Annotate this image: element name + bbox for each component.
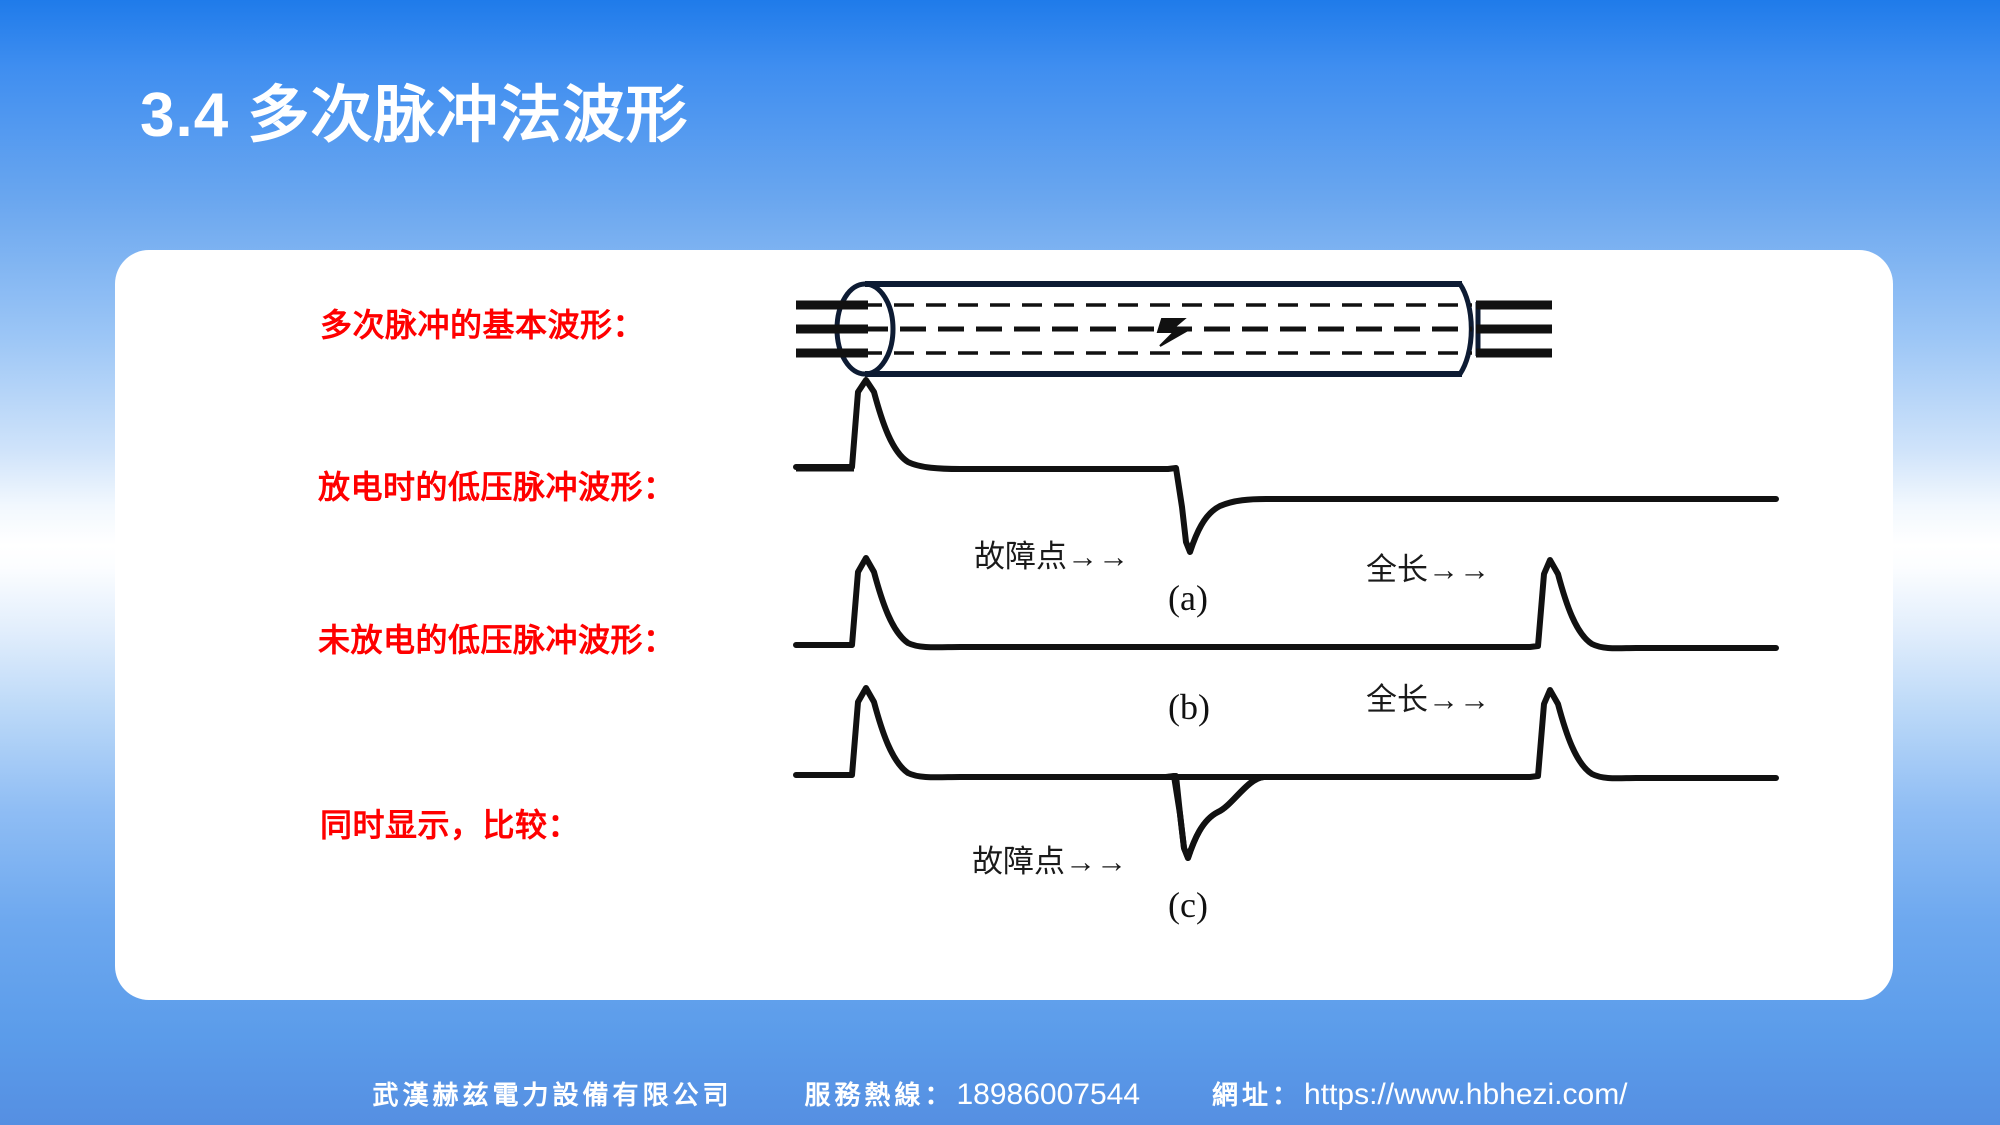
waveform-b-trace [796,558,1776,648]
label-simultaneous-compare: 同时显示，比较： [320,800,580,846]
annotation-fault-point-a: 故障点→→ [974,539,1129,574]
footer-site-url[interactable]: https://www.hbhezi.com/ [1304,1078,1627,1112]
caption-b: (b) [1168,687,1210,727]
footer-website: 網址： https://www.hbhezi.com/ [1212,1075,1627,1112]
waveform-figure: 故障点→→ (a) 全长→→ (b) 全长→→ 故障点→→ (c) [790,262,1850,992]
waveform-a: 故障点→→ (a) [796,380,1776,618]
waveform-c-fault-dip [1168,776,1264,858]
waveform-a-trace [796,380,1776,552]
label-no-discharge-waveform: 未放电的低压脉冲波形： [318,615,676,661]
footer-bar: 武漢赫兹電力設備有限公司 服務熱線： 18986007544 網址： https… [0,1068,2000,1118]
slide-canvas: 3.4 多次脉冲法波形 多次脉冲的基本波形： 放电时的低压脉冲波形： 未放电的低… [0,0,2000,1125]
cable-diagram [796,284,1552,374]
caption-c: (c) [1168,885,1208,925]
footer-company: 武漢赫兹電力設備有限公司 [372,1075,732,1112]
annotation-full-length-b: 全长→→ [1366,552,1490,587]
page-title: 3.4 多次脉冲法波形 [140,82,688,150]
footer-hotline-label: 服務熱線： [804,1075,954,1112]
caption-a: (a) [1168,578,1208,618]
footer-hotline: 服務熱線： 18986007544 [804,1075,1140,1112]
waveform-c: 全长→→ 故障点→→ (c) [796,682,1776,925]
annotation-fault-point-c: 故障点→→ [972,844,1127,879]
label-basic-waveform: 多次脉冲的基本波形： [320,300,645,346]
waveform-b: 全长→→ (b) [796,552,1776,727]
footer-site-label: 網址： [1212,1075,1302,1112]
annotation-full-length-c: 全长→→ [1366,682,1490,717]
waveform-c-trace [796,688,1776,858]
footer-hotline-number: 18986007544 [957,1078,1141,1112]
label-discharge-waveform: 放电时的低压脉冲波形： [318,462,676,508]
